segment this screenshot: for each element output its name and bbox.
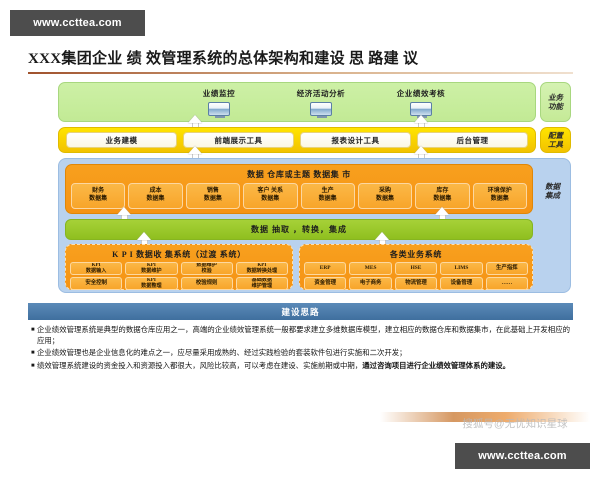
data-mart-box-label-6: 库存数据集 [433,188,451,204]
architecture-diagram: 业绩监控 经济活动分析 企业绩效考核 业务功能 业务建模 前端展示工具 报表设计… [28,80,573,295]
etl-label: 数据 抽取 ，转换，集成 [251,224,347,235]
panel-header: 建设思路 [28,303,573,320]
arrow-up-icon [414,115,428,123]
business-systems-title: 各类业务系统 [300,245,532,260]
etl-bar: 数据 抽取 ，转换，集成 [65,219,533,240]
tool-label-1: 前端展示工具 [215,135,263,146]
function-label-1: 经济活动分析 [279,88,363,99]
business-system-box-1[interactable]: MES [349,262,391,275]
bullet-text-2-normal: 绩效管理系统建设的资金投入和资源投入都很大，风险比较高，可以考虑在建设、实施前期… [37,361,362,370]
bullet-item-0: ■ 企业绩效管理系统是典型的数据仓库应用之一，高端的企业绩效管理系统一般都要求建… [31,325,570,346]
panel-title: 建设思路 [281,306,319,318]
slide-page: www.ccttea.com XXX集团企业 绩 效管理系统的总体架构和建设 思… [0,0,600,480]
arrow-up-icon [137,232,151,240]
kpi-box-3[interactable]: KPI数据转换处理 [236,262,288,275]
construction-approach-panel: 建设思路 ■ 企业绩效管理系统是典型的数据仓库应用之一，高端的企业绩效管理系统一… [28,303,573,398]
kpi-box-label-1: KPI数据维护 [141,263,161,275]
data-mart-box-0[interactable]: 财务数据集 [71,183,125,209]
data-mart-box-label-4: 生产数据集 [319,188,337,204]
data-mart-box-6[interactable]: 库存数据集 [415,183,469,209]
kpi-row-1: KPI数据输入KPI数据维护数据维护校验KPI数据转换处理 [66,260,292,275]
kpi-box-label-3: KPI数据转换处理 [247,263,278,275]
watermark-top: www.ccttea.com [10,10,145,36]
watermark-bottom-text: www.ccttea.com [478,450,567,462]
data-mart-box-label-3: 客户 关系数据集 [258,188,284,204]
kpi-row-2: 安全控制KPI数据整理校验规则基础数据维护管理 [66,275,292,290]
business-system-box-2[interactable]: HSE [395,262,437,275]
tool-label-0: 业务建模 [106,135,138,146]
business-system-box-4[interactable]: 生产指挥 [486,262,528,275]
tool-box-3[interactable]: 后台管理 [417,132,528,148]
business-system-box-1[interactable]: 电子商务 [349,277,391,290]
data-warehouse-title: 数据 仓库或主题 数据集 市 [66,165,532,180]
kpi-box-label-1: KPI数据整理 [141,278,161,290]
kpi-box-0[interactable]: KPI数据输入 [70,262,122,275]
data-mart-box-7[interactable]: 环境保护数据集 [473,183,527,209]
business-system-box-label-1: 电子商务 [360,280,382,286]
data-mart-box-1[interactable]: 成本数据集 [128,183,182,209]
data-integration-container: 数据集成 数据 仓库或主题 数据集 市 财务数据集成本数据集销售数据集客户 关系… [58,158,571,293]
side-label-business-functions-text: 业务功能 [548,93,563,112]
data-mart-box-label-1: 成本数据集 [147,188,165,204]
function-item-1[interactable]: 经济活动分析 [279,88,363,116]
arrow-up-icon [117,207,131,215]
side-label-business-functions: 业务功能 [540,82,571,122]
kpi-collection-system-block: K P I 数据收 集系统（过渡 系统） KPI数据输入KPI数据维护数据维护校… [65,244,293,290]
kpi-box-label-2: 校验规则 [196,280,218,286]
bullet-text-0: 企业绩效管理系统是典型的数据仓库应用之一，高端的企业绩效管理系统一般都要求建立多… [37,325,570,346]
kpi-box-label-0: 安全控制 [85,280,107,286]
kpi-box-1[interactable]: KPI数据整理 [125,277,177,290]
kpi-box-1[interactable]: KPI数据维护 [125,262,177,275]
business-system-box-label-2: HSE [411,265,422,271]
business-system-box-3[interactable]: LIMS [440,262,482,275]
function-item-0[interactable]: 业绩监控 [177,88,261,116]
data-mart-row: 财务数据集成本数据集销售数据集客户 关系数据集生产数据集采购数据集库存数据集环境… [66,180,532,209]
business-system-box-4[interactable]: …… [486,277,528,290]
arrow-up-icon [188,146,202,154]
data-mart-box-2[interactable]: 销售数据集 [186,183,240,209]
business-systems-row-1: ERPMESHSELIMS生产指挥 [300,260,532,275]
tool-label-2: 报表设计工具 [332,135,380,146]
tool-label-3: 后台管理 [457,135,489,146]
kpi-box-3[interactable]: 基础数据维护管理 [236,277,288,290]
arrow-up-icon [188,115,202,123]
bullet-text-2: 绩效管理系统建设的资金投入和资源投入都很大，风险比较高，可以考虑在建设、实施前期… [37,361,510,372]
bullet-text-2-bold: 通过咨询项目进行企业绩效管理体系的建设。 [362,361,510,370]
business-system-box-label-2: 物流管理 [405,280,427,286]
bullet-item-2: ■ 绩效管理系统建设的资金投入和资源投入都很大，风险比较高，可以考虑在建设、实施… [31,361,570,372]
kpi-system-title: K P I 数据收 集系统（过渡 系统） [66,245,292,260]
business-systems-block: 各类业务系统 ERPMESHSELIMS生产指挥 资金管理电子商务物流管理设备管… [299,244,533,290]
arrow-up-icon [435,207,449,215]
kpi-box-2[interactable]: 数据维护校验 [181,262,233,275]
data-mart-box-label-5: 采购数据集 [376,188,394,204]
business-system-box-label-0: ERP [320,265,331,271]
tool-box-2[interactable]: 报表设计工具 [300,132,411,148]
config-tools-band: 业务建模 前端展示工具 报表设计工具 后台管理 [58,127,536,153]
tool-box-0[interactable]: 业务建模 [66,132,177,148]
business-systems-row-2: 资金管理电子商务物流管理设备管理…… [300,275,532,290]
side-label-data-integration-text: 数据集成 [545,182,560,201]
side-label-config-tools: 配置工具 [540,127,571,153]
data-mart-box-label-2: 销售数据集 [204,188,222,204]
data-mart-box-3[interactable]: 客户 关系数据集 [243,183,297,209]
data-mart-box-4[interactable]: 生产数据集 [301,183,355,209]
arrow-up-icon [414,146,428,154]
panel-body: ■ 企业绩效管理系统是典型的数据仓库应用之一，高端的企业绩效管理系统一般都要求建… [28,320,573,372]
kpi-box-label-0: KPI数据输入 [86,263,106,275]
business-system-box-0[interactable]: 资金管理 [304,277,346,290]
function-label-2: 企业绩效考核 [379,88,463,99]
monitor-icon [410,102,432,116]
business-system-box-2[interactable]: 物流管理 [395,277,437,290]
arrow-up-icon [375,232,389,240]
data-warehouse-block: 数据 仓库或主题 数据集 市 财务数据集成本数据集销售数据集客户 关系数据集生产… [65,164,533,214]
business-system-box-label-3: LIMS [455,265,469,271]
business-system-box-label-4: 生产指挥 [496,265,518,271]
bullet-item-1: ■ 企业绩效管理也是企业信息化的难点之一，应尽量采用成熟的、经过实践检验的套装软… [31,348,570,359]
business-system-box-label-1: MES [365,265,377,271]
side-label-data-integration: 数据集成 [537,161,568,221]
bullet-text-1: 企业绩效管理也是企业信息化的难点之一，应尽量采用成熟的、经过实践检验的套装软件包… [37,348,407,359]
watermark-bottom: www.ccttea.com [455,443,590,469]
function-label-0: 业绩监控 [177,88,261,99]
watermark-diagonal: 搜狐号@无忧知识星球 [435,416,595,432]
monitor-icon [310,102,332,116]
kpi-box-label-3: 基础数据维护管理 [252,278,272,290]
watermark-top-text: www.ccttea.com [33,17,122,29]
business-system-box-3[interactable]: 设备管理 [440,277,482,290]
kpi-box-2[interactable]: 校验规则 [181,277,233,290]
data-mart-box-label-0: 财务数据集 [89,188,107,204]
function-item-2[interactable]: 企业绩效考核 [379,88,463,116]
title-divider [28,72,573,74]
title-container: XXX集团企业 绩 效管理系统的总体架构和建设 思 路建 议 [28,47,573,68]
business-system-box-label-4: …… [501,280,512,286]
monitor-icon [208,102,230,116]
data-mart-box-label-7: 环境保护数据集 [488,188,512,204]
kpi-box-0[interactable]: 安全控制 [70,277,122,290]
data-mart-box-5[interactable]: 采购数据集 [358,183,412,209]
business-system-box-label-3: 设备管理 [451,280,473,286]
business-system-box-label-0: 资金管理 [314,280,336,286]
kpi-box-label-2: 数据维护校验 [196,263,216,275]
business-system-box-0[interactable]: ERP [304,262,346,275]
side-label-config-tools-text: 配置工具 [548,131,563,150]
page-title: XXX集团企业 绩 效管理系统的总体架构和建设 思 路建 议 [28,47,573,68]
business-functions-band: 业绩监控 经济活动分析 企业绩效考核 [58,82,536,122]
